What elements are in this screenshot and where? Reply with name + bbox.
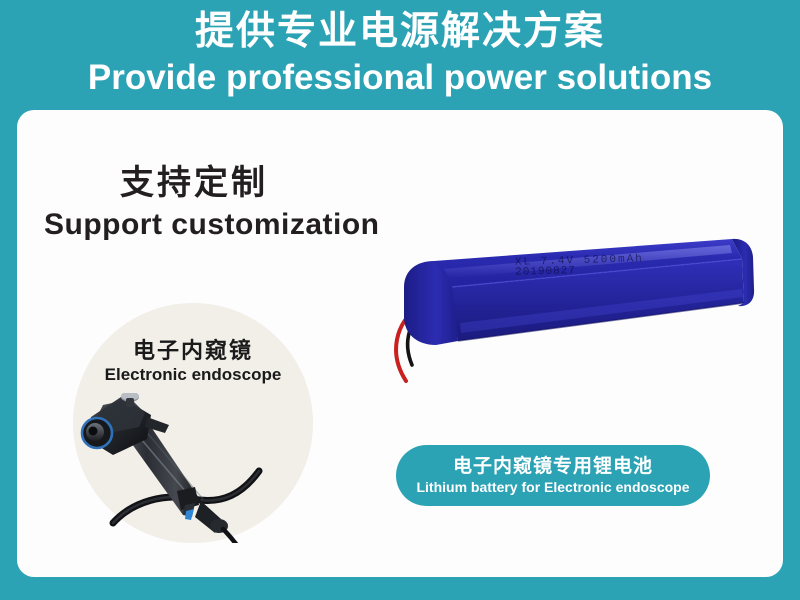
endoscope-badge-title-cn: 电子内窥镜 xyxy=(73,333,313,365)
header-title-en: Provide professional power solutions xyxy=(88,56,712,100)
header-title-cn: 提供专业电源解决方案 xyxy=(195,8,605,56)
product-banner-title-en: Lithium battery for Electronic endoscope xyxy=(416,478,689,496)
product-banner: 电子内窥镜专用锂电池 Lithium battery for Electroni… xyxy=(396,445,710,506)
battery-image: XL 7.4V 5200mAh 20190827 xyxy=(360,215,760,400)
lithium-battery-pack-icon xyxy=(360,215,760,395)
product-banner-title-cn: 电子内窥镜专用锂电池 xyxy=(453,455,653,478)
customization-title-cn: 支持定制 xyxy=(120,155,268,204)
battery-label: XL 7.4V 5200mAh 20190827 xyxy=(515,253,645,279)
endoscope-badge-title-en: Electronic endoscope xyxy=(73,365,313,385)
endoscope-illustration-icon xyxy=(73,393,313,543)
endoscope-badge: 电子内窥镜 Electronic endoscope xyxy=(73,303,313,543)
page-header: 提供专业电源解决方案 Provide professional power so… xyxy=(0,0,800,110)
customization-title-en: Support customization xyxy=(44,208,380,242)
